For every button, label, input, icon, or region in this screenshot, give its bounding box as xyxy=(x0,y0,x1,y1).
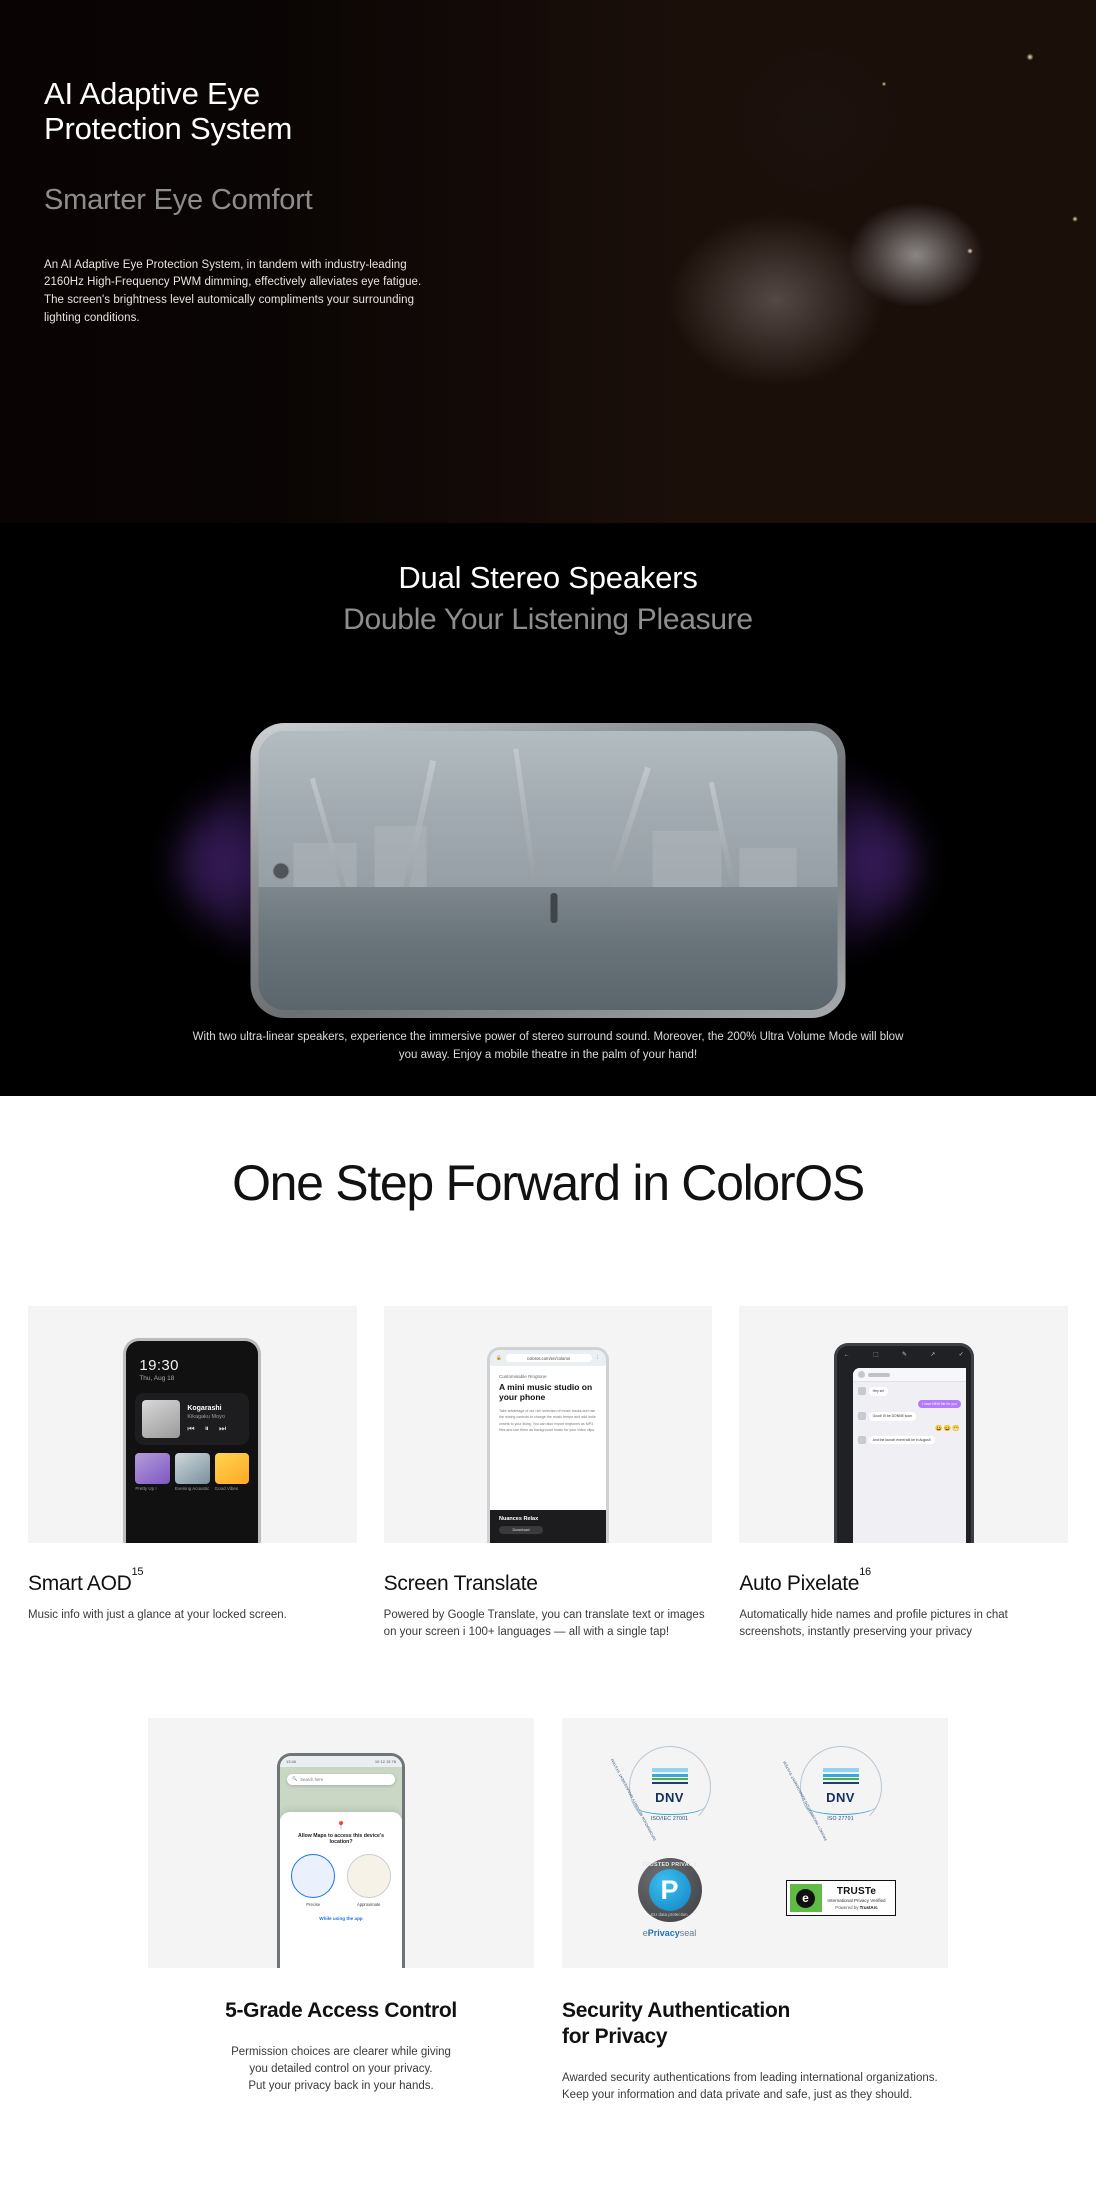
product-page: AI Adaptive Eye Protection System Smarte… xyxy=(0,0,1096,2200)
security-badges-media: INFORMATION SECURITY MANAGEMENT SYSTEM D… xyxy=(562,1718,948,1968)
maps-phone-mockup: 13:46 10 12 15 78 🔍 Search here 📍 Allow … xyxy=(277,1753,405,1968)
chat-message-row: Good! I'll be DONNE soon xyxy=(858,1412,961,1421)
precise-location-preview xyxy=(291,1854,335,1898)
truste-powered-brand: TrustArc xyxy=(860,1905,878,1910)
truste-subtitle: International Privacy Verified xyxy=(822,1898,892,1903)
smart-aod-body: Music info with just a glance at your lo… xyxy=(28,1607,357,1624)
status-bar: 13:46 10 12 15 78 xyxy=(280,1756,402,1767)
eprivacy-wordmark: ePrivacyseal xyxy=(638,1928,702,1938)
status-indicators: 10 12 15 78 xyxy=(375,1759,396,1764)
playback-controls-icon[interactable]: ⏮ ⏸ ⏭ xyxy=(187,1424,230,1434)
feature-card-security-authentication: INFORMATION SECURITY MANAGEMENT SYSTEM D… xyxy=(562,1718,948,2105)
feature-card-access-control: 13:46 10 12 15 78 🔍 Search here 📍 Allow … xyxy=(148,1718,534,2105)
option-approximate[interactable]: Approximate xyxy=(345,1854,394,1907)
playlist-label: Good Vibes xyxy=(215,1486,250,1492)
badge-arc xyxy=(635,1797,705,1815)
article-paragraph: Take advantage of our rich selection of … xyxy=(499,1408,597,1432)
translate-panel: Nuances Relax Download xyxy=(490,1510,606,1543)
avatar-pixelated xyxy=(858,1387,866,1395)
contact-avatar-pixelated xyxy=(858,1371,865,1378)
badge-standard: ISO 27701 xyxy=(800,1816,882,1822)
aod-artist-name: Kikagaku Moyo xyxy=(187,1414,230,1420)
url-text[interactable]: coloros.com/en/coloros xyxy=(506,1354,592,1362)
truste-logo-mark: e xyxy=(790,1884,822,1912)
auto-pixelate-body: Automatically hide names and profile pic… xyxy=(739,1607,1068,1642)
security-authentication-heading: Security Authentication for Privacy xyxy=(562,1998,948,2051)
contact-name-pixelated xyxy=(868,1373,890,1377)
location-accuracy-options: Precise Approximate xyxy=(289,1854,393,1907)
playlist-thumbnail xyxy=(135,1453,170,1484)
playlist-label: Pretty Up ! xyxy=(135,1486,170,1492)
smart-aod-media: 19:30 Thu, Aug 18 Kogarashi Kikagaku Moy… xyxy=(28,1306,357,1543)
eye-title-line-1: AI Adaptive Eye xyxy=(44,76,260,111)
back-icon[interactable]: ← xyxy=(844,1352,850,1358)
footnote-marker: 16 xyxy=(859,1566,871,1578)
eye-protection-hero: AI Adaptive Eye Protection System Smarte… xyxy=(0,0,1096,523)
browser-address-bar: 🔒 coloros.com/en/coloros ⋮ xyxy=(490,1350,606,1366)
access-control-body-line-1: Permission choices are clearer while giv… xyxy=(231,2046,451,2058)
auto-pixelate-heading: Auto Pixelate16 xyxy=(739,1572,1068,1596)
permission-question: Allow Maps to access this device's locat… xyxy=(289,1833,393,1847)
search-icon: 🔍 xyxy=(292,1776,297,1782)
truste-letter: e xyxy=(796,1889,815,1908)
aod-phone-mockup: 19:30 Thu, Aug 18 Kogarashi Kikagaku Moy… xyxy=(123,1338,261,1543)
aod-date: Thu, Aug 18 xyxy=(139,1375,258,1382)
chat-messages: Hey sir! I have NEW file for you Good! I… xyxy=(853,1382,966,1449)
location-pin-icon: 📍 xyxy=(289,1821,393,1830)
playlist-thumbnail xyxy=(175,1453,210,1484)
speakers-subtitle: Double Your Listening Pleasure xyxy=(0,603,1096,637)
map-background: 🔍 Search here xyxy=(280,1767,402,1819)
crop-icon[interactable]: ⬚ xyxy=(873,1351,879,1358)
approximate-location-preview xyxy=(347,1854,391,1898)
chat-bubble: And the launch event will be in August! xyxy=(869,1436,935,1445)
feature-card-screen-translate: 🔒 coloros.com/en/coloros ⋮ Customisable … xyxy=(384,1306,713,1642)
screen-translate-body: Powered by Google Translate, you can tra… xyxy=(384,1607,713,1642)
smart-aod-heading: Smart AOD15 xyxy=(28,1572,357,1596)
chat-bubble: I have NEW file for you xyxy=(918,1400,961,1409)
while-using-app-button[interactable]: While using the app xyxy=(289,1916,393,1921)
badge-dnv-iso-27701: PRIVACY INFORMATION MANAGEMENT SYSTEM DN… xyxy=(800,1746,882,1828)
eprivacy-top-text: TRUSTED PRIVACY xyxy=(638,1862,702,1868)
lock-icon: 🔒 xyxy=(496,1355,502,1361)
truste-powered-prefix: Powered by xyxy=(835,1905,859,1910)
permission-dialog: 📍 Allow Maps to access this device's loc… xyxy=(280,1812,402,1968)
chat-bubble: Hey sir! xyxy=(869,1387,889,1396)
badge-dnv-iso-27001: INFORMATION SECURITY MANAGEMENT SYSTEM D… xyxy=(629,1746,711,1828)
access-control-heading: 5-Grade Access Control xyxy=(148,1998,534,2024)
aod-music-widget: Kogarashi Kikagaku Moyo ⏮ ⏸ ⏭ xyxy=(135,1393,249,1445)
chat-bubble: Good! I'll be DONNE soon xyxy=(869,1412,916,1421)
eye-protection-subtitle: Smarter Eye Comfort xyxy=(44,184,514,217)
security-heading-line-1: Security Authentication xyxy=(562,1999,790,2022)
access-control-body: Permission choices are clearer while giv… xyxy=(148,2044,534,2096)
album-art xyxy=(142,1400,180,1438)
chat-header xyxy=(853,1368,966,1382)
eprivacy-seal-graphic: TRUSTED PRIVACY P EU data protection xyxy=(638,1858,702,1922)
eprivacy-letter: P xyxy=(649,1869,691,1911)
chat-message-row: 😀😄😁 xyxy=(858,1425,961,1432)
share-icon[interactable]: ↗ xyxy=(930,1351,935,1358)
aod-playlist-tiles: Pretty Up ! Evening Acoustic Good Vibes xyxy=(135,1453,249,1492)
footnote-marker: 15 xyxy=(132,1566,144,1578)
coloros-title: One Step Forward in ColorOS xyxy=(0,1154,1096,1212)
article-content: Customisable Ringtone A mini music studi… xyxy=(490,1366,606,1441)
game-water xyxy=(259,887,838,1010)
dnv-logo-bars xyxy=(823,1768,859,1785)
access-control-media: 13:46 10 12 15 78 🔍 Search here 📍 Allow … xyxy=(148,1718,534,1968)
badge-eprivacyseal: TRUSTED PRIVACY P EU data protection ePr… xyxy=(638,1858,702,1938)
translate-phone-mockup: 🔒 coloros.com/en/coloros ⋮ Customisable … xyxy=(487,1347,609,1543)
access-control-body-line-2: you detailed control on your privacy. xyxy=(249,2063,432,2075)
speakers-body: With two ultra-linear speakers, experien… xyxy=(188,1028,908,1065)
dnv-logo-bars xyxy=(652,1768,688,1785)
avatar-pixelated xyxy=(858,1412,866,1420)
chat-message-row: I have NEW file for you xyxy=(858,1400,961,1409)
aod-song-title: Kogarashi xyxy=(187,1405,230,1412)
article-kicker: Customisable Ringtone xyxy=(499,1374,597,1379)
option-precise[interactable]: Precise xyxy=(289,1854,338,1907)
eprivacy-wordmark-mid: Privacy xyxy=(648,1928,680,1938)
feature-card-auto-pixelate: ← ⬚ ✎ ↗ ✓ xyxy=(739,1306,1068,1642)
emoji-reactions: 😀😄😁 xyxy=(935,1425,960,1432)
check-icon[interactable]: ✓ xyxy=(959,1351,964,1358)
option-label: Precise xyxy=(289,1902,338,1907)
playlist-label: Evening Acoustic xyxy=(175,1486,210,1492)
smart-aod-heading-text: Smart AOD xyxy=(28,1572,132,1595)
certification-badges: INFORMATION SECURITY MANAGEMENT SYSTEM D… xyxy=(562,1718,948,1968)
translate-panel-title: Nuances Relax xyxy=(499,1516,597,1522)
badge-standard: ISO/IEC 27001 xyxy=(629,1816,711,1822)
feature-card-smart-aod: 19:30 Thu, Aug 18 Kogarashi Kikagaku Moy… xyxy=(28,1306,357,1642)
eye-protection-body: An AI Adaptive Eye Protection System, in… xyxy=(44,257,444,328)
article-headline: A mini music studio on your phone xyxy=(499,1382,597,1402)
dual-stereo-speakers-section: Dual Stereo Speakers Double Your Listeni… xyxy=(0,523,1096,1096)
coloros-privacy-cards: 13:46 10 12 15 78 🔍 Search here 📍 Allow … xyxy=(0,1718,1096,2105)
speakers-title: Dual Stereo Speakers xyxy=(0,523,1096,596)
eye-title-line-2: Protection System xyxy=(44,111,292,146)
aod-clock: 19:30 xyxy=(139,1357,258,1374)
chat-message-row: And the launch event will be in August! xyxy=(858,1436,961,1445)
chat-message-row: Hey sir! xyxy=(858,1387,961,1396)
truste-text-block: TRUSTe International Privacy Verified Po… xyxy=(822,1884,892,1912)
pen-icon[interactable]: ✎ xyxy=(902,1351,907,1358)
chat-screenshot: Hey sir! I have NEW file for you Good! I… xyxy=(853,1368,966,1543)
security-heading-line-2: for Privacy xyxy=(562,2025,667,2048)
badge-arc xyxy=(806,1797,876,1815)
more-icon[interactable]: ⋮ xyxy=(596,1355,601,1361)
auto-pixelate-media: ← ⬚ ✎ ↗ ✓ xyxy=(739,1306,1068,1543)
status-time: 13:46 xyxy=(286,1759,296,1764)
screen-translate-media: 🔒 coloros.com/en/coloros ⋮ Customisable … xyxy=(384,1306,713,1543)
playlist-tile[interactable]: Pretty Up ! xyxy=(135,1453,170,1492)
coloros-section: One Step Forward in ColorOS 19:30 Thu, A… xyxy=(0,1096,1096,2105)
access-control-body-line-3: Put your privacy back in your hands. xyxy=(248,2080,433,2092)
playlist-tile[interactable]: Good Vibes xyxy=(215,1453,250,1492)
coloros-feature-cards: 19:30 Thu, Aug 18 Kogarashi Kikagaku Moy… xyxy=(0,1306,1096,1642)
playlist-tile[interactable]: Evening Acoustic xyxy=(175,1453,210,1492)
avatar-pixelated xyxy=(858,1436,866,1444)
truste-title: TRUSTe xyxy=(822,1886,892,1897)
badge-truste: e TRUSTe International Privacy Verified … xyxy=(786,1880,896,1916)
playlist-thumbnail xyxy=(215,1453,250,1484)
search-placeholder: Search here xyxy=(300,1777,323,1782)
screen-translate-heading: Screen Translate xyxy=(384,1572,713,1596)
eprivacy-bottom-text: EU data protection xyxy=(638,1912,702,1917)
screenshot-toolbar: ← ⬚ ✎ ↗ ✓ xyxy=(837,1346,971,1363)
game-character xyxy=(551,893,558,923)
download-button[interactable]: Download xyxy=(499,1526,543,1534)
eye-protection-copy: AI Adaptive Eye Protection System Smarte… xyxy=(44,76,514,328)
eye-protection-title: AI Adaptive Eye Protection System xyxy=(44,76,514,147)
pixelate-phone-mockup: ← ⬚ ✎ ↗ ✓ xyxy=(834,1343,974,1543)
map-search-bar[interactable]: 🔍 Search here xyxy=(287,1774,395,1785)
truste-powered-by: Powered by TrustArc xyxy=(822,1905,892,1910)
landscape-phone-mockup xyxy=(251,723,846,1018)
auto-pixelate-heading-text: Auto Pixelate xyxy=(739,1572,859,1595)
security-authentication-body: Awarded security authentications from le… xyxy=(562,2070,948,2105)
phone-screen-game xyxy=(259,731,838,1010)
eprivacy-wordmark-post: seal xyxy=(680,1928,697,1938)
option-label: Approximate xyxy=(345,1902,394,1907)
game-menu-icon[interactable] xyxy=(273,862,290,879)
